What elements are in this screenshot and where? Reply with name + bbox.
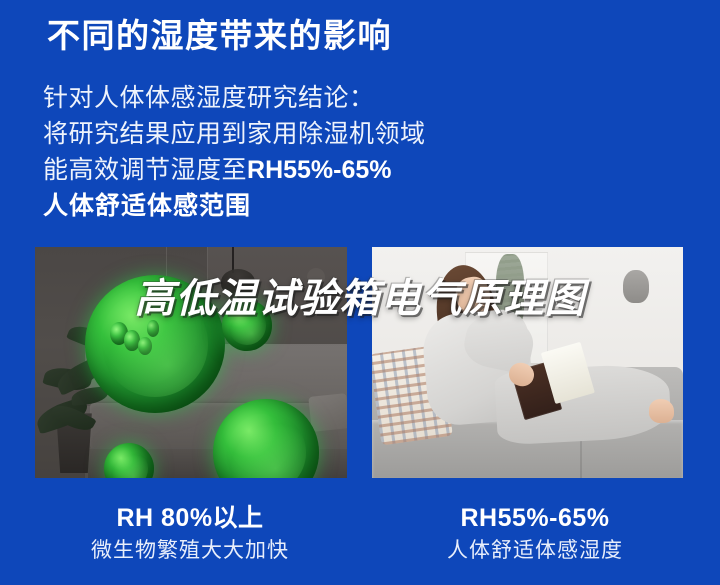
microbe-bud [147, 320, 160, 337]
caption-right-title: RH55%-65% [370, 502, 700, 534]
body-copy-line-2: 将研究结果应用到家用除湿机领域 [43, 116, 523, 152]
bright-room-scene [372, 247, 683, 478]
caption-right: RH55%-65% 人体舒适体感湿度 [370, 502, 700, 565]
body-copy-block: 针对人体体感湿度研究结论： 将研究结果应用到家用除湿机领域 能高效调节湿度至RH… [43, 80, 523, 224]
humidity-infographic-poster: 不同的湿度带来的影响 针对人体体感湿度研究结论： 将研究结果应用到家用除湿机领域… [0, 0, 720, 585]
microbe-bud [138, 337, 152, 355]
microbe-bud [124, 330, 139, 351]
sofa-cushion [308, 393, 347, 432]
page-title: 不同的湿度带来的影响 [47, 16, 392, 56]
microbe-cluster-medium [222, 300, 272, 351]
caption-left-subtitle: 微生物繁殖大大加快 [25, 537, 355, 565]
microbe-cluster-large [85, 275, 225, 414]
caption-left-title: RH 80%以上 [25, 502, 355, 534]
body-copy-line-3-prefix: 能高效调节湿度至 [43, 156, 247, 184]
caption-right-subtitle: 人体舒适体感湿度 [370, 537, 700, 565]
photo-right-comfort-humidity [372, 247, 683, 478]
body-copy-line-4: 人体舒适体感范围 [43, 188, 523, 224]
body-copy-line-3-emphasis: RH55%-65% [247, 156, 392, 184]
dark-room-scene [35, 247, 347, 478]
body-copy-line-3: 能高效调节湿度至RH55%-65% [43, 152, 523, 188]
pendant-lamp-icon [221, 269, 255, 295]
caption-row: RH 80%以上 微生物繁殖大大加快 RH55%-65% 人体舒适体感湿度 [0, 502, 720, 585]
caption-left: RH 80%以上 微生物繁殖大大加快 [25, 502, 355, 565]
body-copy-line-1: 针对人体体感湿度研究结论： [43, 80, 523, 116]
person-reading [372, 247, 683, 478]
microbe-bud [110, 322, 128, 346]
wall-knob [307, 268, 325, 286]
person-foot [649, 399, 674, 422]
photo-row [0, 247, 720, 478]
photo-left-high-humidity [35, 247, 347, 478]
